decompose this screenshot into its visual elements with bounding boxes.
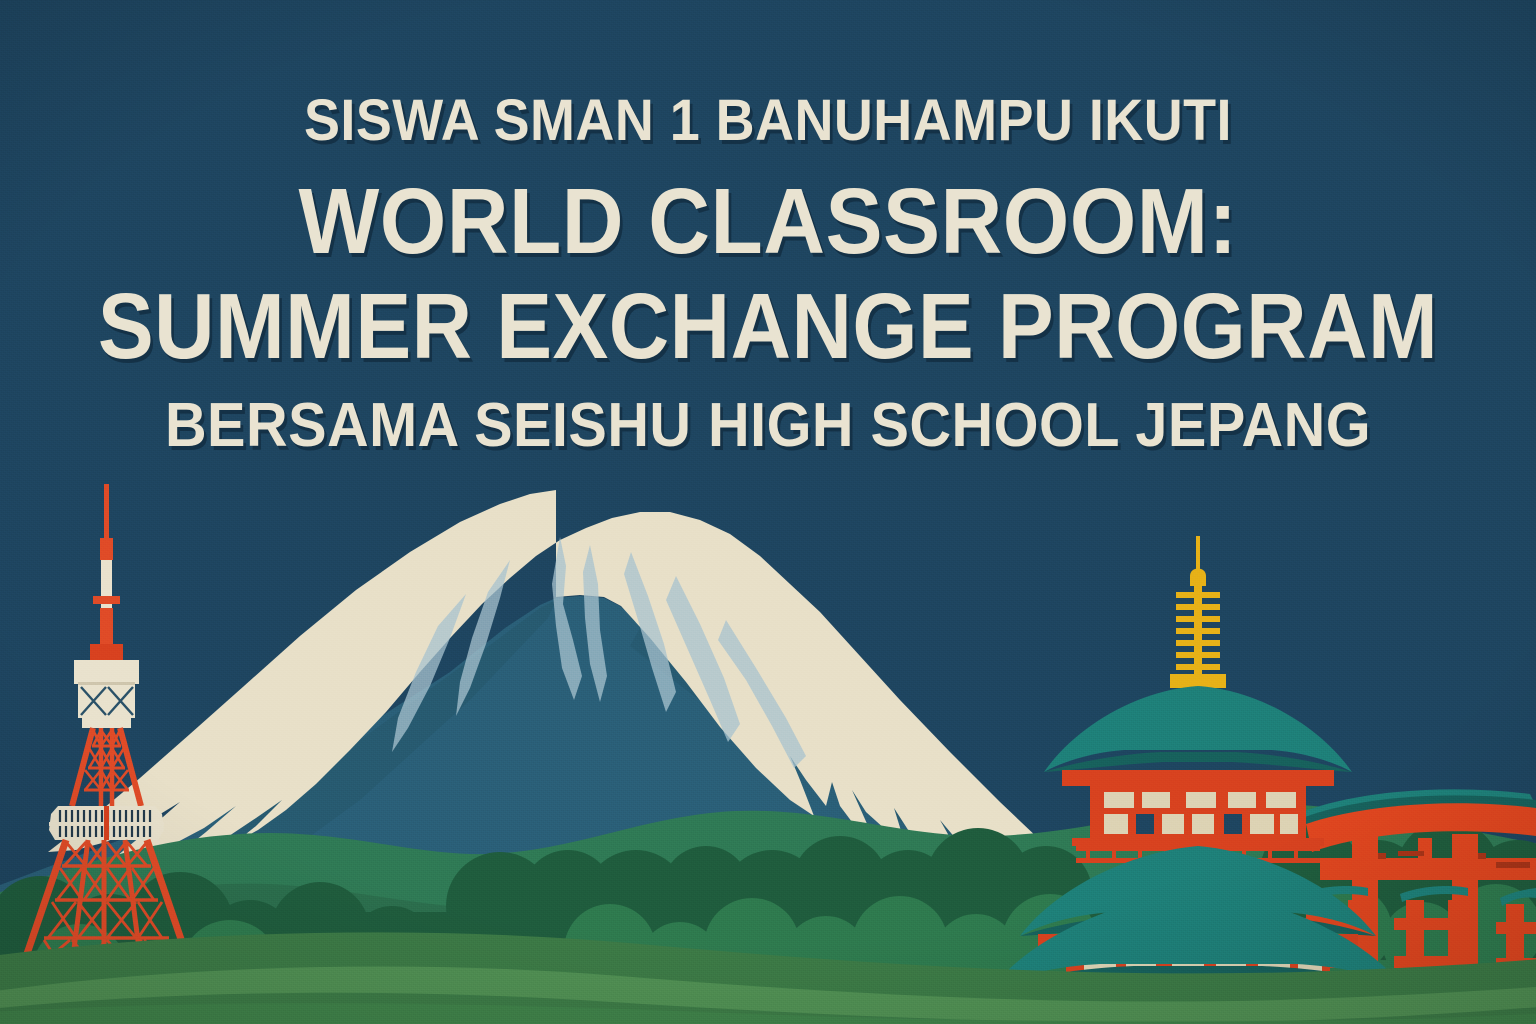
tower-antenna-lower — [100, 608, 113, 650]
tower-antenna-tip — [104, 484, 109, 538]
tower-antenna-upper — [100, 538, 113, 560]
pagoda-balcony-1 — [1072, 838, 1324, 846]
tower-antenna-base — [90, 644, 123, 660]
poster-canvas: SISWA SMAN 1 BANUHAMPU IKUTI WORLD CLASS… — [0, 0, 1536, 1024]
tower-upper-deck-base — [82, 718, 131, 728]
tower-upper-deck-lattice — [78, 682, 135, 718]
tower-main-deck — [49, 806, 164, 840]
torii-gakuzuka — [1418, 838, 1432, 862]
tower-upper-deck-top — [74, 660, 139, 684]
pagoda-eave-1 — [1062, 770, 1334, 786]
tower-mast-collar — [93, 596, 120, 604]
illustration-scene — [0, 0, 1536, 1024]
